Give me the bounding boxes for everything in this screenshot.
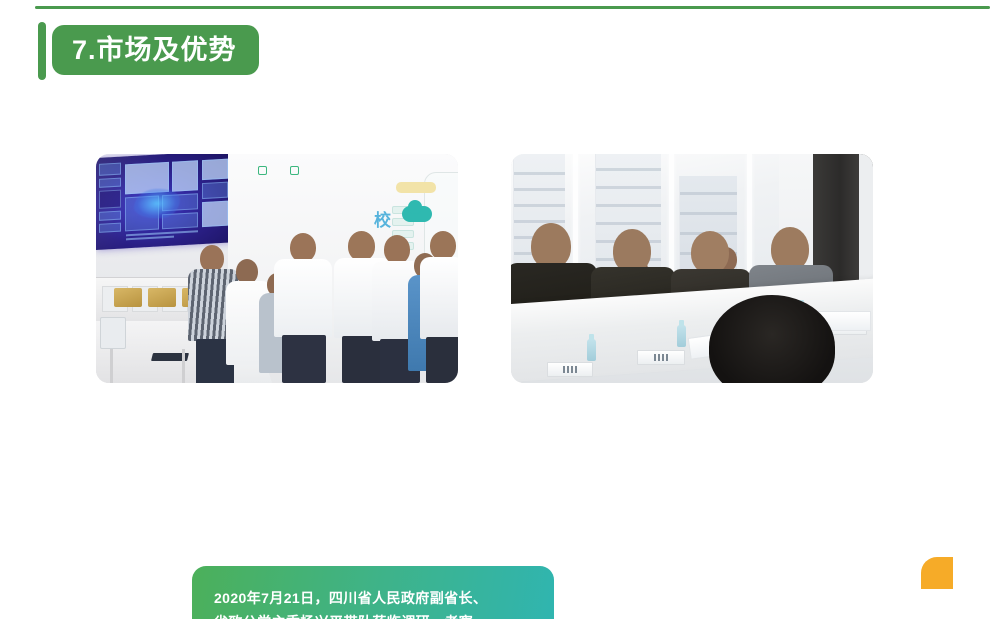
cloud-graphic xyxy=(402,206,432,222)
water-bottle-1 xyxy=(587,339,596,361)
caption-line-1: 2020年7月21日，四川省人民政府副省长、 xyxy=(214,586,532,610)
caption-card-left: 2020年7月21日，四川省人民政府副省长、 省致公党主委杨兴平带队莅临调研、考… xyxy=(192,566,554,619)
wall-diagram-title-tag xyxy=(396,182,436,193)
person-glasses xyxy=(420,231,458,383)
award-plaque-2 xyxy=(148,288,176,307)
title-accent-bar xyxy=(38,22,46,80)
name-placard-1 xyxy=(547,362,593,377)
wall-brand-character: 校 xyxy=(374,206,391,231)
brand-logo-icon-2 xyxy=(290,166,299,175)
video-wall xyxy=(96,154,232,250)
name-placard-2 xyxy=(637,350,685,365)
top-rule-divider xyxy=(35,6,990,9)
brand-logo-icon-1 xyxy=(258,166,267,175)
caption-line-2: 省致公党主委杨兴平带队莅临调研、考察、 xyxy=(214,610,532,619)
content-card-right: 2017年4月5日，全国政协委员梁伟华一行， 在十二届全国两会提案后首次回访并考… xyxy=(511,154,873,383)
page-title-badge: 7.市场及优势 xyxy=(52,25,259,75)
photo-left: 校 xyxy=(96,154,458,383)
award-plaque-1 xyxy=(114,288,142,307)
photo-right xyxy=(511,154,873,383)
corner-decoration-shape xyxy=(921,557,953,589)
content-card-left: 校 xyxy=(96,154,458,383)
person-white-shirt-1 xyxy=(274,233,334,383)
page-title: 7.市场及优势 xyxy=(72,37,237,64)
slide-page: 7.市场及优势 xyxy=(0,0,1000,619)
water-bottle-2 xyxy=(677,325,686,347)
desk-monitor xyxy=(100,317,126,349)
